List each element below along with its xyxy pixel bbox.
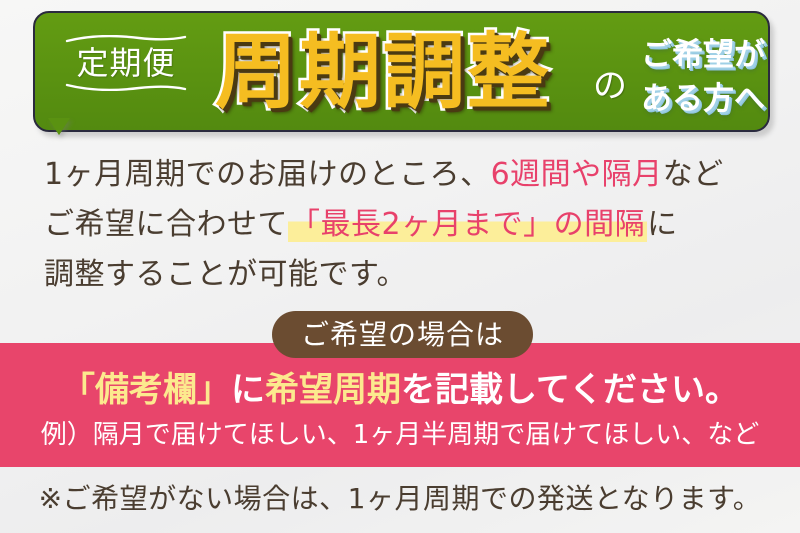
request-case-pill: ご希望の場合は (272, 311, 533, 358)
subscription-badge-label: 定期便 (61, 44, 191, 82)
body-copy-line-1: 1ヶ月周期でのお届けのところ、6週間や隔月など (44, 150, 760, 200)
wave-line-bottom-icon (65, 82, 187, 91)
banner-title-particle: の (593, 67, 627, 105)
instruction-examples: 例）隔月で届けてほしい、1ヶ月半周期で届けてほしい、など (0, 419, 800, 451)
footer-note: ※ご希望がない場合は、1ヶ月周期での発送となります。 (0, 480, 800, 518)
instruction-field-name: 「備考欄」 (61, 370, 231, 410)
banner-subtitle: ご希望が ある方へ (641, 33, 793, 121)
body-copy-line-2: ご希望に合わせて「最長2ヶ月まで」の間隔に (44, 200, 760, 250)
instruction-cycle-term: 希望周期 (265, 370, 401, 410)
body-copy-line-3: 調整することが可能です。 (44, 250, 760, 300)
body-line1-part-a: 1ヶ月周期でのお届けのところ、 (44, 157, 491, 192)
instruction-headline-part-d: を記載してください。 (401, 370, 739, 410)
body-line2-part-a: ご希望に合わせて (44, 207, 288, 242)
body-line2-part-c: に (647, 207, 678, 242)
body-line1-part-c: など (663, 157, 724, 192)
request-case-pill-label: ご希望の場合は (301, 321, 504, 349)
instruction-headline-part-b: に (231, 370, 265, 410)
subscription-badge: 定期便 (61, 35, 191, 91)
banner-subtitle-line2: ある方へ (641, 77, 793, 121)
banner-pointer-tail (48, 118, 70, 135)
promo-banner-page: 定期便 周期調整 の ご希望が ある方へ 1ヶ月周期でのお届けのところ、6週間や… (0, 0, 800, 533)
banner-subtitle-line1: ご希望が (641, 33, 793, 77)
body-line2-highlight: 「最長2ヶ月まで」の間隔 (288, 207, 647, 242)
instruction-band: 「備考欄」に希望周期を記載してください。 例）隔月で届けてほしい、1ヶ月半周期で… (0, 343, 800, 467)
header-banner: 定期便 周期調整 の ご希望が ある方へ (33, 11, 770, 132)
wave-line-top-icon (65, 35, 187, 44)
body-copy: 1ヶ月周期でのお届けのところ、6週間や隔月など ご希望に合わせて「最長2ヶ月まで… (44, 150, 760, 300)
body-line1-emphasis: 6週間や隔月 (491, 157, 663, 192)
banner-title: 周期調整 (215, 25, 551, 121)
instruction-headline: 「備考欄」に希望周期を記載してください。 (0, 369, 800, 411)
